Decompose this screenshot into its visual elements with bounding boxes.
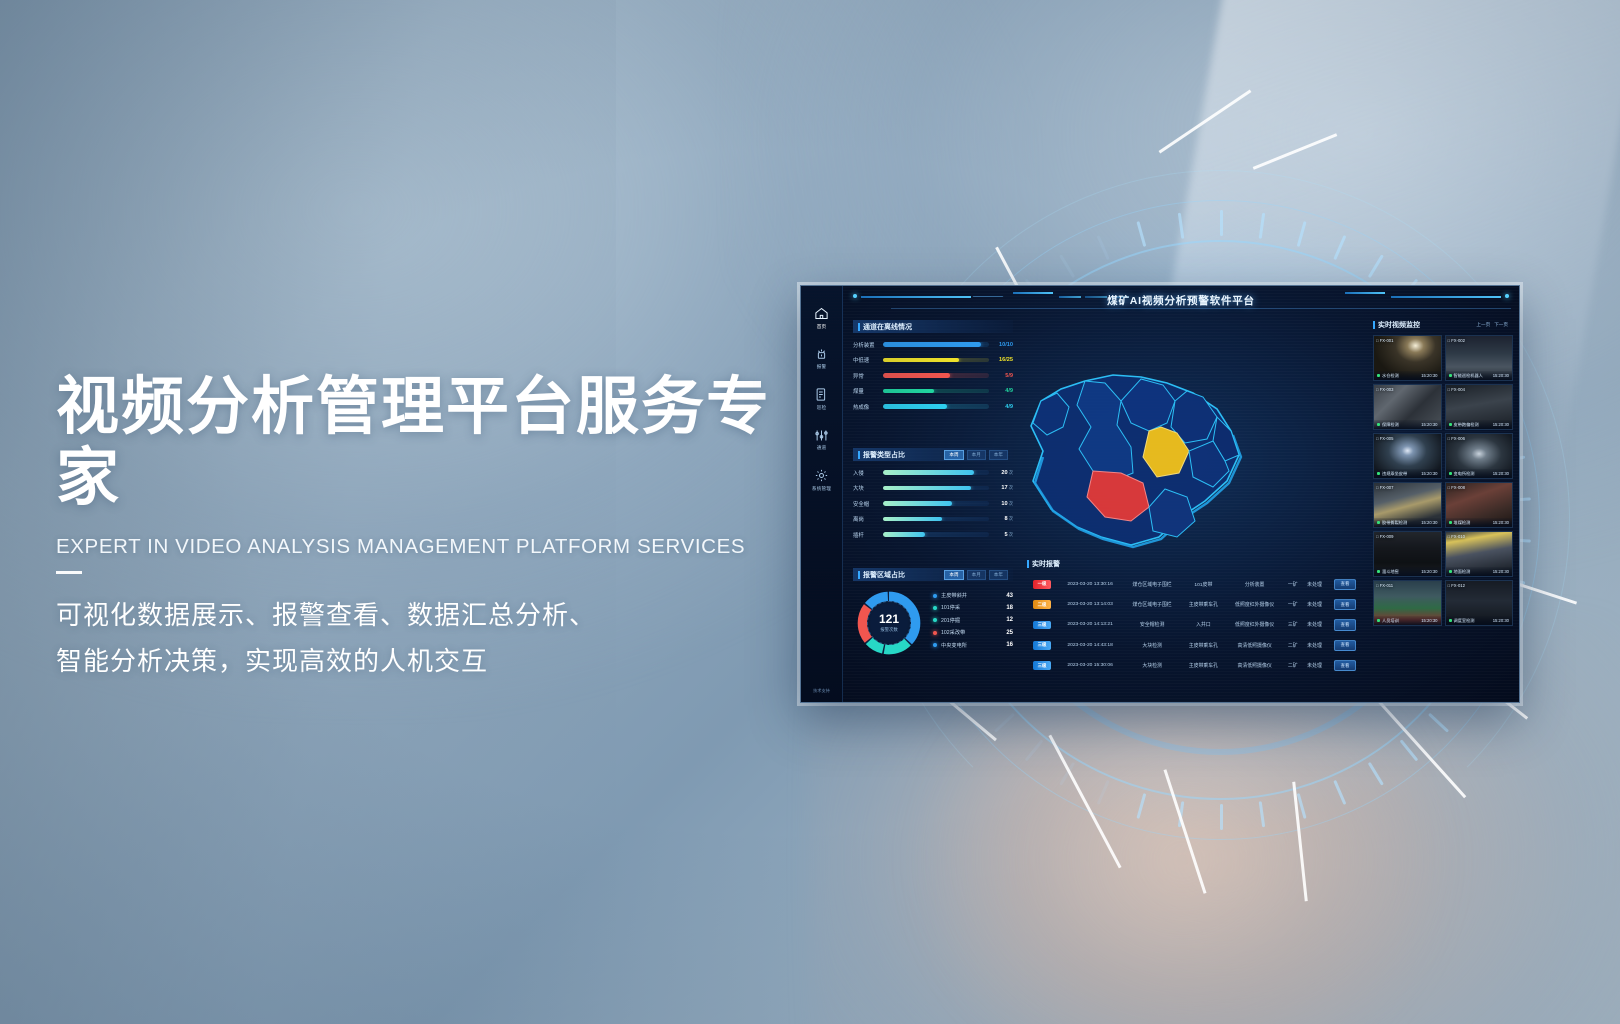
sidebar-item-channel[interactable]: 通道 [802, 428, 842, 452]
alarm-type: 大块检测 [1123, 635, 1181, 655]
status-badge: 一级 [1033, 580, 1052, 589]
legend-label: 中央变电所 [941, 642, 1006, 649]
view-button[interactable]: 查看 [1334, 619, 1357, 630]
time-range-tab[interactable]: 本年 [989, 570, 1008, 580]
alarm-type: 煤仓区域电子围栏 [1123, 574, 1181, 594]
stat-label: 中低速 [853, 356, 883, 364]
stat-label: 安全帽 [853, 500, 883, 508]
alarm-status: 未处理 [1302, 594, 1327, 614]
camera-time: 15:20:30 [1493, 422, 1509, 427]
view-button[interactable]: 查看 [1334, 640, 1357, 651]
time-range-tab[interactable]: 本月 [967, 570, 986, 580]
legend-item: 102采改带25 [933, 629, 1013, 636]
sidebar-item-alarm[interactable]: 报警 [802, 347, 842, 371]
legend-item: 201停掘12 [933, 617, 1013, 624]
alarm-area: 主皮带乘车孔 [1181, 656, 1226, 676]
alarm-type-row: 离岗8次 [853, 515, 1013, 523]
video-cell[interactable]: □ FX-003保障检测15:20:30 [1373, 384, 1442, 430]
status-dot [1377, 521, 1380, 524]
dashboard-screen: 首页 报警 巡检 [801, 286, 1519, 702]
time-range-tabs[interactable]: 本周本月本年 [944, 570, 1008, 580]
panel-alarm-type: 报警类型占比 本周本月本年 入侵20次大块17次安全帽10次离岗8次插杆5次 [853, 448, 1013, 539]
status-dot [1377, 570, 1380, 573]
camera-name: 智能巡检机器人 [1454, 373, 1483, 379]
view-button[interactable]: 查看 [1334, 660, 1357, 671]
alarm-status: 未处理 [1302, 615, 1327, 635]
legend-label: 101停采 [941, 604, 1006, 611]
channel-stat-list: 分析装置10/10中低速16/25异常5/9煤量4/9热成像4/9 [853, 341, 1013, 411]
status-dot [1377, 619, 1380, 622]
view-button[interactable]: 查看 [1334, 599, 1357, 610]
alarm-type: 安全帽检测 [1123, 615, 1181, 635]
hero-desc-line2: 智能分析决策，实现高效的人机交互 [56, 638, 816, 684]
legend-label: 102采改带 [941, 629, 1006, 636]
camera-id: □ FX-004 [1448, 387, 1465, 392]
alarm-device: 分析装置 [1226, 574, 1284, 594]
home-icon [814, 306, 829, 321]
stat-bar-fill [883, 470, 974, 475]
sidebar-item-home[interactable]: 首页 [802, 306, 842, 330]
status-dot [1377, 472, 1380, 475]
stat-label: 入侵 [853, 469, 883, 477]
camera-name: 调度室检测 [1454, 618, 1475, 624]
status-badge: 三级 [1033, 621, 1052, 630]
stat-bar-fill [883, 358, 959, 363]
stat-bar-track [883, 501, 989, 506]
channel-stat-row: 煤量4/9 [853, 387, 1013, 395]
channel-stat-row: 异常5/9 [853, 372, 1013, 380]
camera-id: □ FX-009 [1376, 534, 1393, 539]
alarm-area: 入井口 [1181, 615, 1226, 635]
stat-value: 4/9 [989, 404, 1013, 410]
camera-id: □ FX-012 [1448, 583, 1465, 588]
time-range-tabs[interactable]: 本周本月本年 [944, 450, 1008, 460]
panel-title: 实时视频监控 [1378, 320, 1420, 330]
alarm-type-list: 入侵20次大块17次安全帽10次离岗8次插杆5次 [853, 469, 1013, 539]
alarm-device: 高清低照摄像仪 [1226, 635, 1284, 655]
stat-bar-fill [883, 486, 971, 491]
stat-label: 异常 [853, 372, 883, 380]
alarm-type-row: 插杆5次 [853, 531, 1013, 539]
panel-title: 通道在离线情况 [863, 322, 912, 332]
video-cell[interactable]: □ FX-011人员培训15:20:30 [1373, 580, 1442, 626]
sidebar-item-label: 系统管理 [812, 486, 831, 492]
stat-bar-track [883, 389, 989, 394]
camera-time: 15:20:30 [1421, 471, 1437, 476]
video-grid: □ FX-001水仓检测15:20:30□ FX-002智能巡检机器人15:20… [1373, 335, 1513, 626]
dashboard-title: 煤矿AI视频分析预警软件平台 [1107, 293, 1255, 308]
camera-id: □ FX-011 [1376, 583, 1393, 588]
panel-realtime-alarm: 实时报警 一级2023-03-20 13:30:16煤仓区域电子围栏101皮带分… [1027, 558, 1363, 676]
legend-value: 16 [1006, 642, 1013, 648]
legend-color-dot [933, 606, 937, 610]
stat-bar-fill [883, 532, 925, 537]
camera-name: 保障检测 [1382, 422, 1399, 428]
stat-value: 10次 [989, 501, 1013, 507]
panel-title: 报警区域占比 [863, 570, 905, 580]
legend-item: 主皮带斜井43 [933, 592, 1013, 599]
page-title: 视频分析管理平台服务专家 [56, 372, 816, 513]
camera-time: 15:20:30 [1421, 422, 1437, 427]
panel-title: 报警类型占比 [863, 450, 905, 460]
panel-channel-status: 通道在离线情况 分析装置10/10中低速16/25异常5/9煤量4/9热成像4/… [853, 320, 1013, 411]
camera-id: □ FX-008 [1448, 485, 1465, 490]
legend-item: 中央变电所16 [933, 642, 1013, 649]
camera-id: □ FX-001 [1376, 338, 1393, 343]
video-cell[interactable]: □ FX-001水仓检测15:20:30 [1373, 335, 1442, 381]
legend-label: 201停掘 [941, 617, 1006, 624]
next-page-button[interactable]: 下一页 [1494, 322, 1508, 328]
dashboard-header: 煤矿AI视频分析预警软件平台 [843, 286, 1519, 314]
alarm-area: 101皮带 [1181, 574, 1226, 594]
table-row[interactable]: 三级2023-03-20 14:43:18大块检测主皮带乘车孔高清低照摄像仪二矿… [1027, 635, 1363, 655]
alarm-mine: 一矿 [1284, 574, 1302, 594]
time-range-tab[interactable]: 本月 [967, 450, 986, 460]
stat-label: 插杆 [853, 531, 883, 539]
legend-value: 25 [1006, 630, 1013, 636]
stat-value: 5次 [989, 532, 1013, 538]
video-cell[interactable]: □ FX-006变电所检测15:20:30 [1445, 433, 1514, 479]
alarm-area: 主皮带乘车孔 [1181, 635, 1226, 655]
table-row[interactable]: 三级2023-03-20 14:13:21安全帽检测入井口低照度红外摄像仪三矿未… [1027, 615, 1363, 635]
stat-bar-track [883, 470, 989, 475]
panel-alarm-area: 报警区域占比 本周本月本年 121 报警次数 [853, 568, 1013, 659]
camera-id: □ FX-005 [1376, 436, 1393, 441]
stat-value: 20次 [989, 470, 1013, 476]
legend-value: 12 [1006, 617, 1013, 623]
stat-label: 煤量 [853, 387, 883, 395]
hero-subline: EXPERT IN VIDEO ANALYSIS MANAGEMENT PLAT… [56, 535, 816, 559]
status-dot [1449, 374, 1452, 377]
stat-bar-track [883, 404, 989, 409]
panel-header: 实时报警 [1027, 558, 1363, 570]
alarm-type-row: 安全帽10次 [853, 500, 1013, 508]
camera-time: 15:20:30 [1493, 520, 1509, 525]
video-cell[interactable]: □ FX-007胶带撕裂检测15:20:30 [1373, 482, 1442, 528]
alarm-status: 未处理 [1302, 574, 1327, 594]
alarm-device: 高清低照摄像仪 [1226, 656, 1284, 676]
status-dot [1449, 423, 1452, 426]
video-cell[interactable]: □ FX-010地面检测15:20:30 [1445, 531, 1514, 577]
hero-desc-line1: 可视化数据展示、报警查看、数据汇总分析、 [56, 592, 816, 638]
alarm-total-value: 121 [879, 613, 899, 625]
panel-header: 通道在离线情况 [853, 320, 1013, 333]
video-cell[interactable]: □ FX-009溜斗地窖15:20:30 [1373, 531, 1442, 577]
legend-color-dot [933, 618, 937, 622]
camera-time: 15:20:30 [1493, 373, 1509, 378]
camera-name: 地面检测 [1454, 569, 1471, 575]
legend-item: 101停采18 [933, 604, 1013, 611]
prev-page-button[interactable]: 上一页 [1476, 322, 1490, 328]
status-dot [1449, 619, 1452, 622]
channel-stat-row: 分析装置10/10 [853, 341, 1013, 349]
camera-name: 人员培训 [1382, 618, 1399, 624]
legend-value: 18 [1006, 605, 1013, 611]
panel-live-video: 实时视频监控 上一页 下一页 □ FX-001水仓检测15:20:30□ FX-… [1373, 318, 1513, 626]
stat-value: 17次 [989, 485, 1013, 491]
sidebar-item-label: 首页 [817, 324, 827, 330]
status-dot [1449, 521, 1452, 524]
alarm-device: 低照度红外摄像仪 [1226, 594, 1284, 614]
stat-bar-fill [883, 342, 981, 347]
stat-value: 5/9 [989, 373, 1013, 379]
status-dot [1377, 423, 1380, 426]
stat-bar-track [883, 532, 989, 537]
alarm-status: 未处理 [1302, 656, 1327, 676]
gear-icon [814, 468, 829, 483]
time-range-tab[interactable]: 本年 [989, 450, 1008, 460]
panel-title: 实时报警 [1032, 559, 1060, 569]
stat-bar-track [883, 373, 989, 378]
alarm-mine: 二矿 [1284, 656, 1302, 676]
camera-time: 15:20:30 [1493, 618, 1509, 623]
camera-time: 15:20:30 [1421, 520, 1437, 525]
stat-bar-track [883, 517, 989, 522]
camera-name: 违规乘坐皮带 [1382, 471, 1407, 477]
camera-name: 皮带跑偏检测 [1454, 422, 1479, 428]
region-map[interactable] [981, 331, 1291, 581]
table-row[interactable]: 二级2023-03-20 13:14:03煤仓区域电子围栏主皮带乘车孔低照度红外… [1027, 594, 1363, 614]
camera-time: 15:20:30 [1493, 471, 1509, 476]
legend-color-dot [933, 631, 937, 635]
time-range-tab[interactable]: 本周 [944, 450, 963, 460]
divider [56, 571, 82, 574]
legend-color-dot [933, 643, 937, 647]
table-row[interactable]: 一级2023-03-20 13:30:16煤仓区域电子围栏101皮带分析装置一矿… [1027, 574, 1363, 594]
alarm-total-caption: 报警次数 [880, 627, 898, 633]
stat-value: 8次 [989, 516, 1013, 522]
stat-value: 4/9 [989, 388, 1013, 394]
stat-bar-fill [883, 389, 934, 394]
stat-label: 离岗 [853, 515, 883, 523]
alarm-icon [814, 347, 829, 362]
camera-id: □ FX-010 [1448, 534, 1465, 539]
alarm-device: 低照度红外摄像仪 [1226, 615, 1284, 635]
status-badge: 三级 [1033, 641, 1052, 650]
camera-id: □ FX-006 [1448, 436, 1465, 441]
alarm-status: 未处理 [1302, 635, 1327, 655]
camera-name: 溜斗地窖 [1382, 569, 1399, 575]
hero-copy: 视频分析管理平台服务专家 EXPERT IN VIDEO ANALYSIS MA… [56, 372, 816, 685]
legend-label: 主皮带斜井 [941, 592, 1006, 599]
view-button[interactable]: 查看 [1334, 579, 1357, 590]
camera-time: 15:20:30 [1421, 569, 1437, 574]
inspection-icon [814, 387, 829, 402]
video-cell[interactable]: □ FX-008堆煤检测15:20:30 [1445, 482, 1514, 528]
legend-color-dot [933, 594, 937, 598]
alarm-time: 2023-03-20 14:43:18 [1057, 635, 1123, 655]
alarm-time: 2023-03-20 14:13:21 [1057, 615, 1123, 635]
channel-stat-row: 中低速16/25 [853, 356, 1013, 364]
alarm-time: 2023-03-20 13:30:16 [1057, 574, 1123, 594]
camera-name: 胶带撕裂检测 [1382, 520, 1407, 526]
video-cell[interactable]: □ FX-012调度室检测15:20:30 [1445, 580, 1514, 626]
stat-bar-fill [883, 517, 942, 522]
alarm-mine: 一矿 [1284, 594, 1302, 614]
sidebar-item-inspection[interactable]: 巡检 [802, 387, 842, 411]
camera-time: 15:20:30 [1493, 569, 1509, 574]
alarm-mine: 三矿 [1284, 615, 1302, 635]
status-dot [1377, 374, 1380, 377]
camera-name: 堆煤检测 [1454, 520, 1471, 526]
status-badge: 二级 [1033, 600, 1052, 609]
camera-id: □ FX-002 [1448, 338, 1465, 343]
alarm-area: 主皮带乘车孔 [1181, 594, 1226, 614]
panel-header: 实时视频监控 上一页 下一页 [1373, 318, 1513, 331]
dashboard-monitor: 首页 报警 巡检 [800, 285, 1520, 703]
legend-value: 43 [1006, 593, 1013, 599]
status-dot [1449, 570, 1452, 573]
panel-header: 报警类型占比 本周本月本年 [853, 448, 1013, 461]
alarm-type: 大块检测 [1123, 656, 1181, 676]
video-cell[interactable]: □ FX-004皮带跑偏检测15:20:30 [1445, 384, 1514, 430]
stat-bar-track [883, 486, 989, 491]
stat-bar-fill [883, 373, 950, 378]
stat-value: 10/10 [989, 342, 1013, 348]
stat-bar-fill [883, 501, 952, 506]
stat-bar-fill [883, 404, 947, 409]
status-badge: 三级 [1033, 661, 1052, 670]
camera-id: □ FX-003 [1376, 387, 1393, 392]
alarm-area-donut-chart[interactable]: 121 报警次数 [853, 587, 925, 659]
sidebar-item-system[interactable]: 系统管理 [802, 468, 842, 492]
sidebar-item-label: 通道 [817, 445, 827, 451]
sidebar-footer: 技术支持 [801, 688, 842, 694]
video-cell[interactable]: □ FX-005违规乘坐皮带15:20:30 [1373, 433, 1442, 479]
sidebar-item-label: 巡检 [817, 405, 827, 411]
camera-name: 水仓检测 [1382, 373, 1399, 379]
stat-bar-track [883, 358, 989, 363]
status-dot [1449, 472, 1452, 475]
alarm-mine: 二矿 [1284, 635, 1302, 655]
camera-time: 15:20:30 [1421, 618, 1437, 623]
donut-legend: 主皮带斜井43101停采18201停掘12102采改带25中央变电所16 [933, 592, 1013, 654]
alarm-type-row: 入侵20次 [853, 469, 1013, 477]
video-cell[interactable]: □ FX-002智能巡检机器人15:20:30 [1445, 335, 1514, 381]
channel-stat-row: 热成像4/9 [853, 403, 1013, 411]
alarm-table: 一级2023-03-20 13:30:16煤仓区域电子围栏101皮带分析装置一矿… [1027, 574, 1363, 676]
channel-icon [814, 428, 829, 443]
stat-label: 热成像 [853, 403, 883, 411]
time-range-tab[interactable]: 本周 [944, 570, 963, 580]
alarm-time: 2023-03-20 15:30:06 [1057, 656, 1123, 676]
stat-value: 16/25 [989, 357, 1013, 363]
alarm-time: 2023-03-20 13:14:03 [1057, 594, 1123, 614]
camera-name: 变电所检测 [1454, 471, 1475, 477]
sidebar-item-label: 报警 [817, 364, 827, 370]
sidebar: 首页 报警 巡检 [801, 286, 843, 702]
table-row[interactable]: 三级2023-03-20 15:30:06大块检测主皮带乘车孔高清低照摄像仪二矿… [1027, 656, 1363, 676]
stat-label: 分析装置 [853, 341, 883, 349]
stat-label: 大块 [853, 484, 883, 492]
alarm-type: 煤仓区域电子围栏 [1123, 594, 1181, 614]
camera-id: □ FX-007 [1376, 485, 1393, 490]
stat-bar-track [883, 342, 989, 347]
panel-header: 报警区域占比 本周本月本年 [853, 568, 1013, 581]
alarm-type-row: 大块17次 [853, 484, 1013, 492]
camera-time: 15:20:30 [1421, 373, 1437, 378]
